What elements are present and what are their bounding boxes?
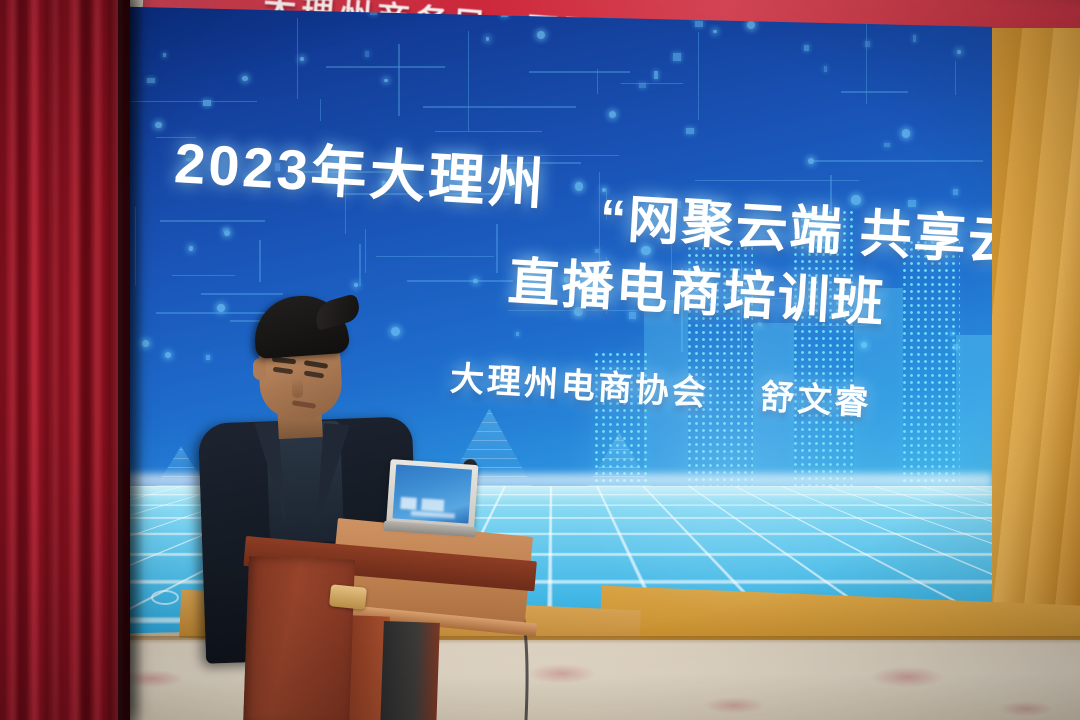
conference-photo: 大理州商务局 “网聚云端 共享云品” 直播电商 承办：云南云味文化发展有限公司 … <box>0 0 1080 720</box>
laptop-icon <box>386 459 479 537</box>
laptop-logo <box>400 497 463 513</box>
laptop-frame <box>386 459 478 531</box>
podium-bracket <box>329 584 367 610</box>
podium <box>246 532 538 720</box>
podium-front <box>243 556 355 720</box>
cables <box>0 0 1080 720</box>
podium-shadow-panel <box>380 621 440 720</box>
laptop-screen <box>392 464 472 523</box>
